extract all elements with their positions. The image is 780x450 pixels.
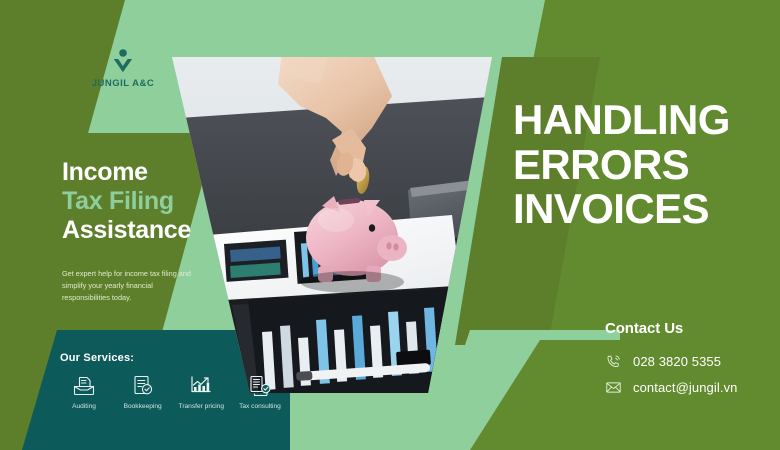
contact-block: Contact Us 028 3820 5355 contact@jungil.… (605, 320, 738, 405)
phone-ring-icon (605, 353, 622, 370)
person-check-icon (110, 48, 136, 74)
left-body-text: Get expert help for income tax filing an… (62, 268, 202, 303)
banner-root: JUNGIL A&C Income Tax Filing Assistance … (0, 0, 780, 450)
contact-phone: 028 3820 5355 (633, 354, 721, 369)
services-list: Auditing Bookkeeping (58, 374, 286, 412)
contact-email-row[interactable]: contact@jungil.vn (605, 379, 738, 396)
service-item-transfer-pricing[interactable]: Transfer pricing (175, 374, 227, 412)
services-title: Our Services: (60, 352, 134, 364)
audit-folder-icon (72, 374, 96, 398)
left-headline-line2: Tax Filing (62, 187, 191, 216)
left-headline: Income Tax Filing Assistance (62, 158, 191, 245)
envelope-icon (605, 379, 622, 396)
right-headline-line3: INVOICES (513, 187, 730, 232)
left-headline-line3: Assistance (62, 216, 191, 245)
right-headline: HANDLING ERRORS INVOICES (513, 98, 730, 232)
service-label: Auditing (58, 403, 110, 412)
bar-chart-growth-icon (189, 374, 213, 398)
service-item-tax-consulting[interactable]: Tax consulting (234, 374, 286, 412)
right-headline-line1: HANDLING (513, 98, 730, 143)
brand-name: JUNGIL A&C (78, 78, 168, 89)
document-check-icon (131, 374, 155, 398)
left-headline-line1: Income (62, 158, 191, 187)
brand-logo[interactable]: JUNGIL A&C (78, 48, 168, 89)
contact-title: Contact Us (605, 320, 738, 337)
right-headline-line2: ERRORS (513, 143, 730, 188)
service-label: Tax consulting (234, 403, 286, 412)
service-item-bookkeeping[interactable]: Bookkeeping (117, 374, 169, 412)
contact-email: contact@jungil.vn (633, 380, 738, 395)
services-panel: Our Services: Auditing (0, 330, 290, 450)
service-label: Transfer pricing (175, 403, 227, 412)
contact-phone-row[interactable]: 028 3820 5355 (605, 353, 738, 370)
documents-stack-icon (248, 374, 272, 398)
service-label: Bookkeeping (117, 403, 169, 412)
service-item-auditing[interactable]: Auditing (58, 374, 110, 412)
